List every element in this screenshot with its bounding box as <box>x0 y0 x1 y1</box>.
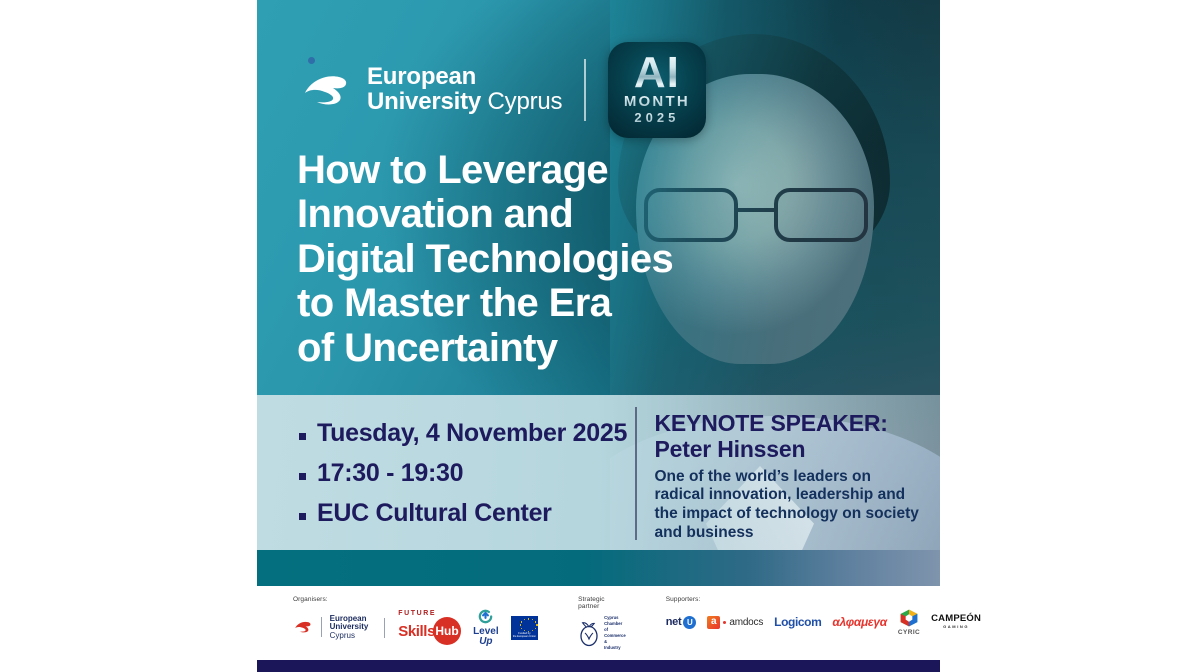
fsh-hub-badge: Hub <box>433 617 461 645</box>
euc-line2: University <box>367 88 488 115</box>
fsh-top-text: FUTURE <box>398 610 461 617</box>
euc-line1: European <box>367 65 562 90</box>
band-divider <box>635 407 637 540</box>
footer-logo-european-university-cyprus: European University Cyprus <box>293 615 371 640</box>
footer-logo-cyric: CYRIC <box>898 608 920 637</box>
amdocs-mark-icon: a <box>707 616 720 629</box>
organisers-section: Organisers: European University Cyprus <box>257 596 548 647</box>
ai-badge-title: AI <box>634 53 680 93</box>
euc-wordmark: European University Cyprus <box>367 65 562 115</box>
strategic-partner-caption: Strategic partner <box>578 596 626 610</box>
supporters-section: Supporters: net U a amdocs Logicom αλφαμ… <box>656 596 991 637</box>
logo-divider <box>584 59 586 121</box>
chamber-emblem-icon <box>578 619 600 647</box>
bullet-icon <box>299 473 306 480</box>
ai-badge-year: 2025 <box>634 110 679 127</box>
netu-text: net <box>666 616 682 628</box>
keynote-label: KEYNOTE SPEAKER: <box>655 411 941 436</box>
campeon-line2: GAMING <box>931 625 981 630</box>
footer-logo-amdocs: a amdocs <box>707 616 763 629</box>
headline-line-2: Innovation and <box>297 192 717 236</box>
euc-swoosh-icon <box>293 617 313 637</box>
footer-logo-logicom: Logicom <box>774 615 821 629</box>
amdocs-text: amdocs <box>729 617 763 628</box>
keynote-speaker-name: Peter Hinssen <box>655 436 941 462</box>
bullet-icon <box>299 433 306 440</box>
footer-logo-future-skills-hub: FUTURE Skills Hub <box>398 610 461 645</box>
page-canvas: European University Cyprus AI MONTH 2025… <box>0 0 1201 672</box>
eu-stars-icon <box>511 618 538 631</box>
euc-logo: European University Cyprus <box>299 63 562 117</box>
cyric-cube-icon <box>899 608 919 628</box>
event-venue-text: EUC Cultural Center <box>317 497 552 529</box>
headline-line-5: of Uncertainty <box>297 326 717 370</box>
supporters-caption: Supporters: <box>666 596 981 603</box>
poster-headline: How to Leverage Innovation and Digital T… <box>297 148 717 370</box>
ai-month-badge: AI MONTH 2025 <box>608 42 706 138</box>
footer-logo-netu: net U <box>666 616 697 629</box>
organisers-caption: Organisers: <box>293 596 538 603</box>
poster-logo-row: European University Cyprus AI MONTH 2025 <box>299 42 706 138</box>
bottom-navy-bar <box>257 660 940 672</box>
keynote-desc-line-4: and business <box>655 524 941 543</box>
fsh-main-text: Skills <box>398 624 435 639</box>
event-date-text: Tuesday, 4 November 2025 <box>317 417 627 449</box>
eu-caption: Funded by the European Union <box>511 632 538 639</box>
event-poster: European University Cyprus AI MONTH 2025… <box>257 0 940 586</box>
footer-mini-divider <box>384 618 385 638</box>
keynote-description: One of the world’s leaders on radical in… <box>655 468 941 542</box>
headline-line-3: Digital Technologies <box>297 237 717 281</box>
euc-footer-line2-light: Cyprus <box>330 631 355 640</box>
event-detail-venue: EUC Cultural Center <box>299 497 635 529</box>
ai-badge-month: MONTH <box>624 94 690 109</box>
event-detail-date: Tuesday, 4 November 2025 <box>299 417 635 449</box>
event-detail-time: 17:30 - 19:30 <box>299 457 635 489</box>
keynote-desc-line-2: radical innovation, leadership and <box>655 486 941 505</box>
headline-line-1: How to Leverage <box>297 148 717 192</box>
footer-logo-campeon-gaming: CAMPEÓN GAMING <box>931 614 981 630</box>
level-up-circular-arrow-icon <box>477 608 494 625</box>
footer-logo-level-up: Level Up <box>470 608 502 647</box>
level-up-text-italic: Up <box>479 636 492 647</box>
event-time-text: 17:30 - 19:30 <box>317 457 463 489</box>
headline-line-4: to Master the Era <box>297 281 717 325</box>
euc-wordmark: European University Cyprus <box>330 615 372 640</box>
event-details-list: Tuesday, 4 November 2025 17:30 - 19:30 E… <box>257 395 635 550</box>
amdocs-dot-icon <box>723 621 726 624</box>
netu-circle-mark: U <box>683 616 696 629</box>
chamber-wordmark: Cyprus Chamber of Commerce & Industry <box>604 615 626 652</box>
euc-line2-light: Cyprus <box>488 88 563 115</box>
keynote-desc-line-1: One of the world’s leaders on <box>655 468 941 487</box>
bullet-icon <box>299 513 306 520</box>
strategic-partner-section: Strategic partner Cyprus Chamber of Comm… <box>568 596 636 652</box>
footer-logo-cyprus-chamber: Cyprus Chamber of Commerce & Industry <box>578 615 626 652</box>
keynote-desc-line-3: the impact of technology on society <box>655 505 941 524</box>
euc-swoosh-icon <box>299 63 353 117</box>
poster-bottom-teal-strip <box>257 550 940 586</box>
footer-logo-bar: Organisers: European University Cyprus <box>257 586 940 660</box>
cyric-text: CYRIC <box>898 630 920 637</box>
footer-logo-funded-by-eu: Funded by the European Union <box>511 616 538 640</box>
keynote-speaker-block: KEYNOTE SPEAKER: Peter Hinssen One of th… <box>637 395 941 550</box>
footer-logo-alphamega: αλφαμεγα <box>832 615 887 629</box>
event-details-band: Tuesday, 4 November 2025 17:30 - 19:30 E… <box>257 395 940 550</box>
